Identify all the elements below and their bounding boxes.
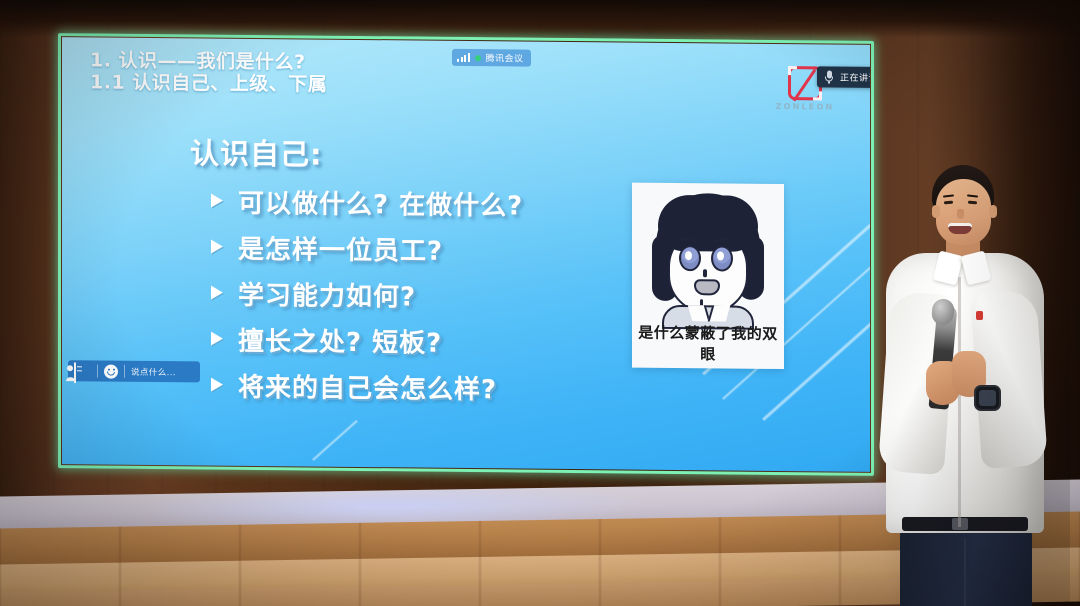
teary-eye-icon	[711, 245, 733, 271]
presentation-slide: 1. 认识——我们是什么? 1.1 认识自己、上级、下属 腾讯会议 ZONLEO…	[62, 37, 870, 472]
list-item: 擅长之处? 短板?	[210, 321, 610, 362]
slide-title: 1. 认识——我们是什么? 1.1 认识自己、上级、下属	[90, 49, 327, 96]
meeting-label: 腾讯会议	[486, 51, 524, 64]
cartoon-character-illustration	[632, 183, 784, 326]
ceiling-shadow	[0, 0, 1080, 38]
contact-card-icon[interactable]	[74, 363, 91, 378]
green-status-dot	[475, 55, 481, 61]
projection-screen: 1. 认识——我们是什么? 1.1 认识自己、上级、下属 腾讯会议 ZONLEO…	[62, 37, 870, 472]
bullet-text: 是怎样一位员工?	[238, 229, 443, 268]
brand-name: ZONLEON	[774, 102, 836, 112]
bullet-text: 将来的自己会怎么样?	[238, 367, 497, 406]
bullet-text: 学习能力如何?	[238, 275, 416, 314]
arrow-bullet-icon	[210, 376, 226, 395]
divider	[124, 365, 125, 378]
arrow-bullet-icon	[210, 284, 226, 303]
teary-eye-icon	[679, 245, 701, 271]
slide-body: 认识自己: 可以做什么? 在做什么? 是怎样一位员工? 学习能力如何? 擅长之处…	[190, 130, 610, 416]
chat-input[interactable]: 说点什么...	[131, 365, 194, 378]
list-item: 是怎样一位员工?	[210, 229, 610, 270]
meme-image: 是什么蒙蔽了我的双眼	[632, 183, 784, 369]
slide-title-line2: 1.1 认识自己、上级、下属	[90, 72, 327, 97]
bullet-text: 可以做什么? 在做什么?	[238, 183, 523, 223]
presenter-mouth	[948, 223, 972, 234]
presenter-trousers	[900, 527, 1032, 606]
microphone-icon	[825, 70, 833, 83]
list-item: 学习能力如何?	[210, 275, 610, 316]
red-lapel-pin-icon	[976, 311, 983, 320]
slide-title-line1: 1. 认识——我们是什么?	[90, 49, 327, 74]
speaking-indicator[interactable]: 正在讲话 ›	[817, 66, 870, 88]
arrow-bullet-icon	[210, 238, 226, 257]
tencent-meeting-badge[interactable]: 腾讯会议	[452, 49, 531, 67]
slide-heading: 认识自己:	[190, 130, 610, 176]
presenter-speaker	[880, 165, 1050, 606]
bullet-text: 擅长之处? 短板?	[238, 321, 442, 360]
speaking-label: 正在讲话	[840, 71, 870, 84]
emoji-face-icon[interactable]	[104, 364, 118, 378]
divider	[97, 364, 98, 377]
smartwatch-icon	[976, 387, 999, 409]
conference-room-scene: 1. 认识——我们是什么? 1.1 认识自己、上级、下属 腾讯会议 ZONLEO…	[0, 0, 1080, 606]
list-item: 将来的自己会怎么样?	[210, 367, 610, 408]
meme-caption: 是什么蒙蔽了我的双眼	[632, 322, 784, 365]
meeting-chat-bar[interactable]: 说点什么...	[68, 360, 200, 382]
arrow-bullet-icon	[210, 192, 226, 211]
list-item: 可以做什么? 在做什么?	[210, 183, 610, 224]
signal-bars-icon	[457, 53, 470, 62]
arrow-bullet-icon	[210, 330, 226, 349]
